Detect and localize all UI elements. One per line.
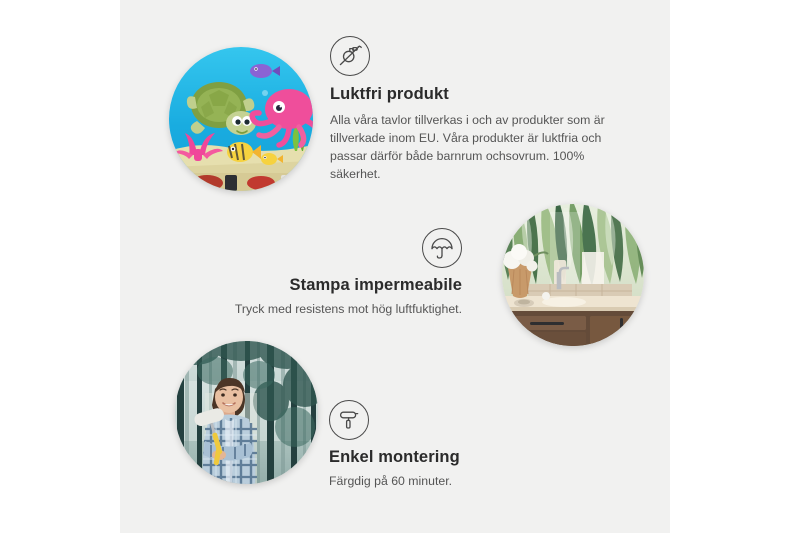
no-fragrance-icon: [330, 36, 370, 76]
paint-roller-icon: [329, 400, 369, 440]
bathroom-botanical-wallpaper-thumbnail[interactable]: [502, 204, 644, 346]
underwater-cartoon-mural-thumbnail[interactable]: [169, 47, 313, 191]
feature-title-easy-mount: Enkel montering: [329, 447, 609, 468]
feature-body-waterproof: Tryck med resistens mot hög luftfuktighe…: [180, 300, 462, 318]
umbrella-icon: [422, 228, 462, 268]
feature-block-odourless: Luktfri produkt Alla våra tavlor tillver…: [330, 36, 630, 183]
woman-with-paint-roller-forest-thumbnail[interactable]: [175, 341, 318, 484]
feature-block-easy-mount: Enkel montering Färgdig på 60 minuter.: [329, 400, 609, 490]
infographic-canvas: Luktfri produkt Alla våra tavlor tillver…: [0, 0, 800, 533]
feature-title-waterproof: Stampa impermeabile: [180, 275, 462, 296]
feature-body-odourless: Alla våra tavlor tillverkas i och av pro…: [330, 111, 630, 184]
feature-block-waterproof: Stampa impermeabile Tryck med resistens …: [180, 228, 462, 318]
feature-title-odourless: Luktfri produkt: [330, 84, 630, 105]
feature-body-easy-mount: Färgdig på 60 minuter.: [329, 472, 609, 490]
